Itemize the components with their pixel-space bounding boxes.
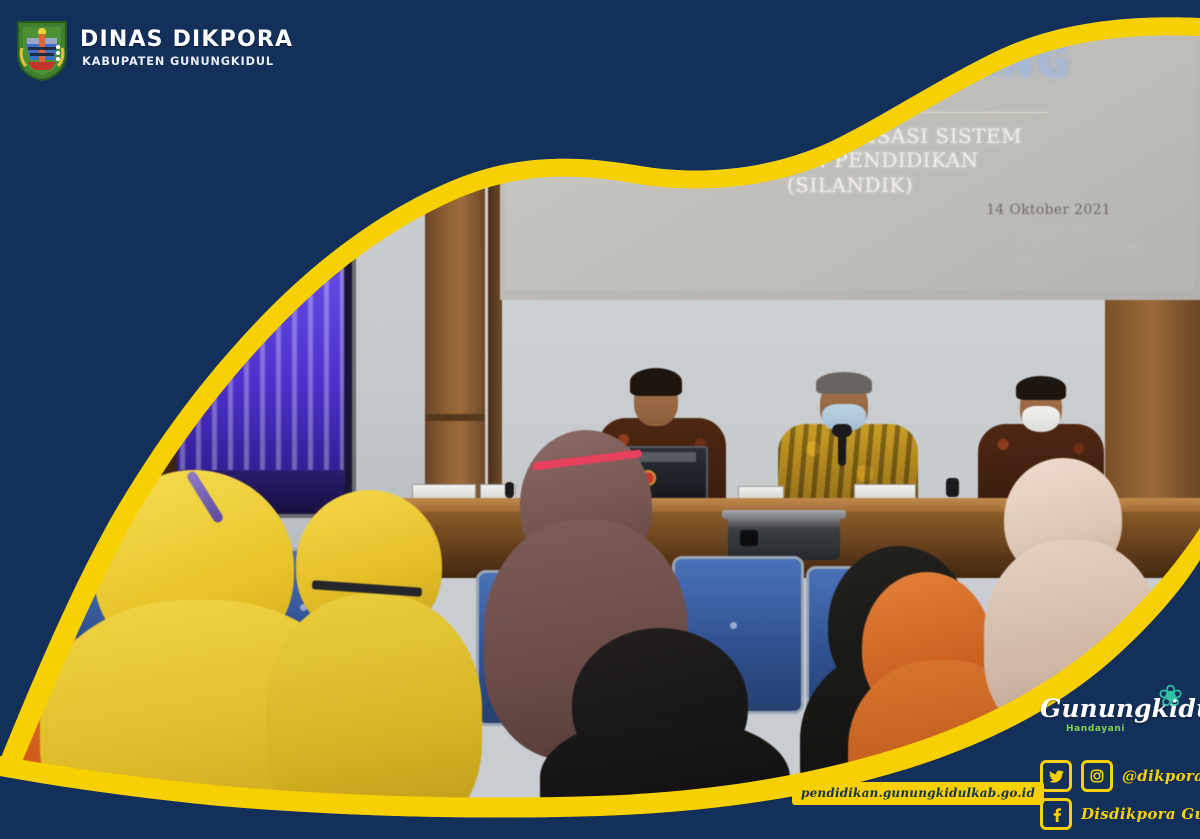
twitter-icon[interactable]	[1040, 760, 1072, 792]
gunungkidul-coat-of-arms-icon	[14, 14, 70, 82]
poster-header: DINAS DIKPORA KABUPATEN GUNUNGKIDUL	[14, 14, 293, 82]
org-region: KABUPATEN GUNUNGKIDUL	[82, 56, 291, 68]
org-name: DINAS DIKPORA	[80, 29, 293, 51]
facebook-handle: Disdikpora Gunungkidul	[1081, 805, 1200, 823]
header-text-block: DINAS DIKPORA KABUPATEN GUNUNGKIDUL	[80, 29, 293, 68]
brand-tagline: Handayani	[1066, 724, 1190, 734]
poster-canvas: SELAMAT DATANG ❧ PESERTA SOSIALISASI SIS…	[0, 0, 1200, 839]
event-photograph: SELAMAT DATANG ❧ PESERTA SOSIALISASI SIS…	[0, 0, 1200, 839]
website-url: pendidikan.gunungkidulkab.go.id	[801, 786, 1035, 800]
social-row-top: @dikpora_gk	[1040, 760, 1200, 792]
website-url-badge[interactable]: pendidikan.gunungkidulkab.go.id	[792, 782, 1044, 805]
gunungkidul-brand-logo: ❀ Gunungkidul Handayani	[1040, 694, 1190, 752]
social-row-bottom: Disdikpora Gunungkidul	[1040, 798, 1200, 830]
facebook-icon[interactable]	[1040, 798, 1072, 830]
instagram-handle: @dikpora_gk	[1122, 767, 1200, 785]
instagram-icon[interactable]	[1081, 760, 1113, 792]
green-leaf-flourish-icon: ❀	[1158, 682, 1183, 712]
photo-softening-overlay	[0, 0, 1200, 839]
